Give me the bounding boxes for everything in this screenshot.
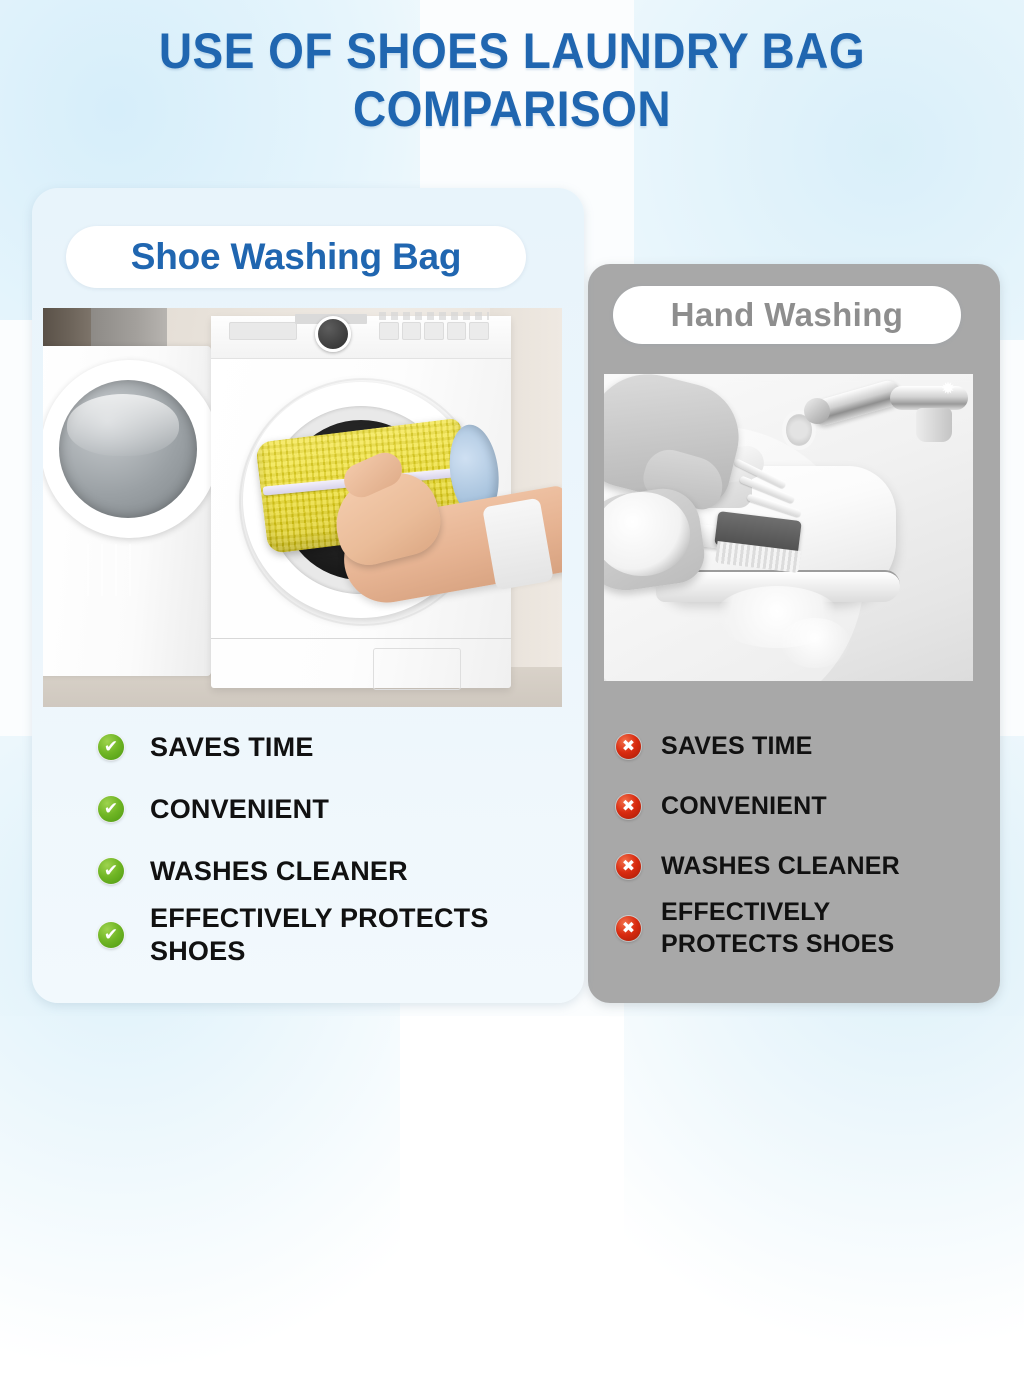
program-dial-icon — [315, 316, 351, 352]
faucet-base-icon — [916, 408, 952, 442]
check-icon: ✔ — [98, 858, 124, 884]
feature-label: WASHES CLEANER — [150, 855, 408, 888]
feature-label: CONVENIENT — [150, 793, 329, 826]
feature-label: SAVES TIME — [150, 731, 314, 764]
hand-washing-scene: ✹ — [604, 374, 973, 681]
hand-washing-label: Hand Washing — [671, 296, 904, 334]
shoe-washing-bag-photo — [43, 308, 562, 707]
control-buttons — [379, 322, 489, 340]
shoe-washing-bag-label-pill: Shoe Washing Bag — [66, 226, 526, 288]
feature-row: ✖ SAVES TIME — [616, 716, 986, 776]
feature-row: ✖ CONVENIENT — [616, 776, 986, 836]
check-icon: ✔ — [98, 734, 124, 760]
feature-label: SAVES TIME — [661, 730, 813, 762]
detergent-drawer-icon — [229, 322, 297, 340]
soap-foam-drip — [780, 618, 850, 668]
feature-label: EFFECTIVELY PROTECTS SHOES — [150, 902, 489, 968]
washing-machine-scene — [43, 308, 562, 707]
feature-row: ✔ WASHES CLEANER — [98, 840, 568, 902]
feature-row: ✔ CONVENIENT — [98, 778, 568, 840]
check-icon: ✔ — [98, 796, 124, 822]
cross-icon: ✖ — [616, 854, 641, 879]
cross-icon: ✖ — [616, 734, 641, 759]
shoe-washing-bag-panel: Shoe Washing Bag — [32, 188, 584, 1003]
feature-label: EFFECTIVELY PROTECTS SHOES — [661, 896, 894, 960]
feature-row: ✔ SAVES TIME — [98, 716, 568, 778]
hand-washing-panel: Hand Washing ✹ — [588, 264, 1000, 1003]
hand-washing-label-pill: Hand Washing — [613, 286, 961, 344]
feature-row: ✔ EFFECTIVELY PROTECTS SHOES — [98, 902, 568, 968]
machine-filter-hatch — [373, 648, 461, 690]
feature-label: WASHES CLEANER — [661, 850, 900, 882]
feature-label: CONVENIENT — [661, 790, 827, 822]
faucet-head-icon — [804, 398, 830, 424]
cross-icon: ✖ — [616, 916, 641, 941]
hand-washing-photo: ✹ — [604, 374, 973, 681]
machine-seam — [211, 638, 511, 639]
page-title: USE OF SHOES LAUNDRY BAG COMPARISON — [41, 22, 983, 138]
control-labels — [379, 312, 489, 320]
shoe-washing-bag-label: Shoe Washing Bag — [131, 236, 462, 278]
hand-washing-feature-list: ✖ SAVES TIME ✖ CONVENIENT ✖ WASHES CLEAN… — [616, 716, 986, 960]
wall-drips — [87, 544, 149, 600]
check-icon: ✔ — [98, 922, 124, 948]
cross-icon: ✖ — [616, 794, 641, 819]
shoe-washing-bag-feature-list: ✔ SAVES TIME ✔ CONVENIENT ✔ WASHES CLEAN… — [98, 716, 568, 968]
sparkle-icon: ✹ — [939, 380, 957, 398]
dryer-door-ring — [43, 360, 219, 538]
feature-row: ✖ EFFECTIVELY PROTECTS SHOES — [616, 896, 986, 960]
feature-row: ✖ WASHES CLEANER — [616, 836, 986, 896]
dryer-door-highlight — [67, 394, 179, 456]
